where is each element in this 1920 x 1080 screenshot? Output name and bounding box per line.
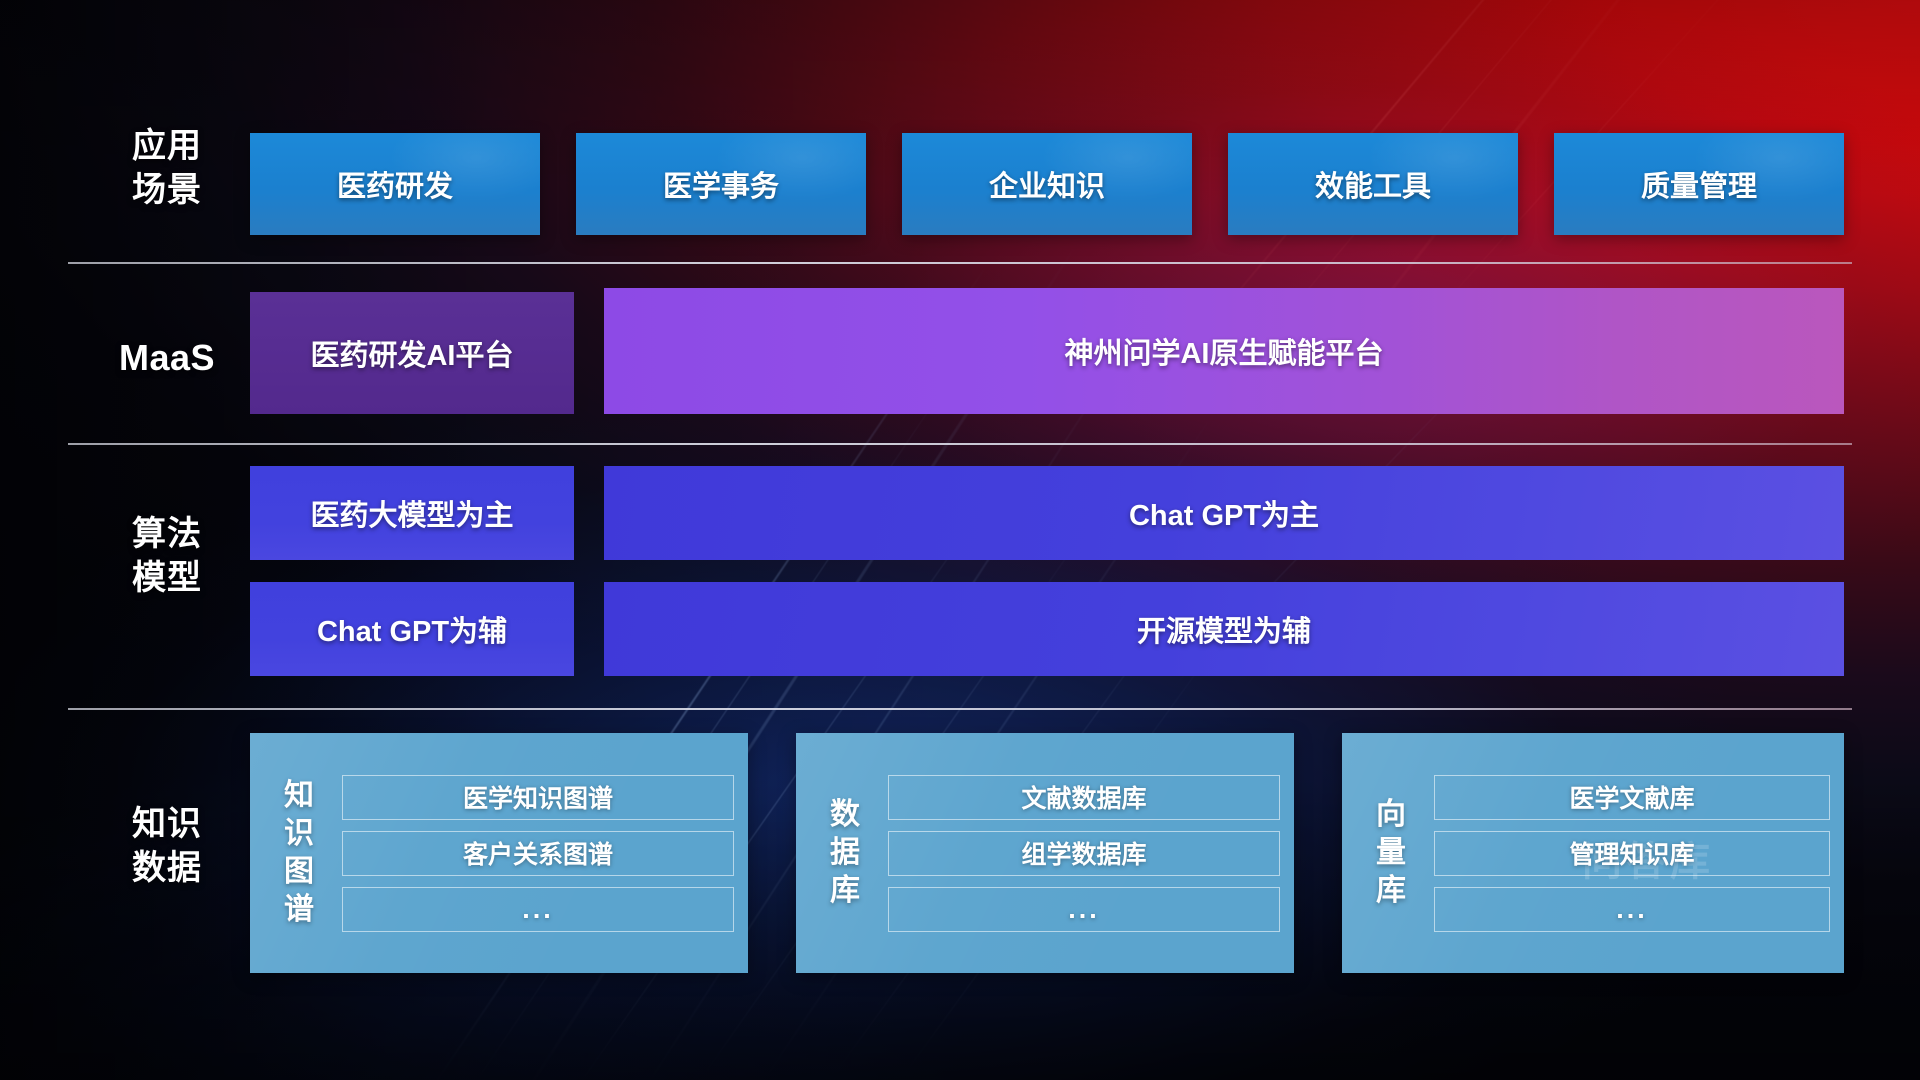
row-label-knowledge-data: 知识 数据 — [92, 802, 242, 890]
scenario-box-5[interactable]: 质量管理 — [1554, 133, 1844, 235]
kg-item-2[interactable]: 客户关系图谱 — [342, 831, 734, 876]
row-label-line-2: 场景 — [92, 168, 242, 212]
architecture-diagram: 应用 场景 医药研发 医学事务 企业知识 效能工具 质量管理 MaaS 医药研发… — [0, 0, 1920, 1080]
db-title-line-1: 数 — [808, 796, 882, 834]
divider-3 — [68, 708, 1852, 710]
vec-item-2-label: 管理知识库 — [1569, 835, 1694, 871]
db-title-line-3: 库 — [808, 872, 882, 910]
maas-box-shenzhou-platform[interactable]: 神州问学AI原生赋能平台 — [604, 288, 1844, 414]
scenario-box-1-label: 医药研发 — [337, 163, 453, 205]
scenario-box-3-label: 企业知识 — [989, 163, 1105, 205]
db-item-2[interactable]: 组学数据库 — [888, 831, 1280, 876]
knowledge-group-database-items: 文献数据库 组学数据库 ... — [882, 761, 1294, 946]
knowledge-group-vector-items: 医学文献库 管理知识库 ... — [1428, 761, 1844, 946]
knowledge-group-vector[interactable]: 问答库 向 量 库 医学文献库 管理知识库 ... — [1342, 733, 1844, 973]
db-item-2-label: 组学数据库 — [1021, 835, 1146, 871]
row-label-algo-line-1: 算法 — [92, 512, 242, 556]
row-label-maas-text: MaaS — [92, 336, 242, 380]
algo-box-opensource-aux-label: 开源模型为辅 — [1137, 608, 1311, 650]
divider-1 — [68, 262, 1852, 264]
algo-box-chatgpt-aux-label: Chat GPT为辅 — [317, 608, 507, 650]
vec-title-line-3: 库 — [1354, 872, 1428, 910]
row-label-kd-line-2: 数据 — [92, 846, 242, 890]
row-label-maas: MaaS — [92, 336, 242, 380]
knowledge-group-vector-title: 向 量 库 — [1354, 796, 1428, 910]
vec-title-line-1: 向 — [1354, 796, 1428, 834]
row-label-line-1: 应用 — [92, 124, 242, 168]
vec-item-2[interactable]: 管理知识库 — [1434, 831, 1830, 876]
algo-box-chatgpt-main-label: Chat GPT为主 — [1129, 492, 1319, 534]
algo-box-opensource-aux[interactable]: 开源模型为辅 — [604, 582, 1844, 676]
divider-2 — [68, 443, 1852, 445]
row-label-kd-line-1: 知识 — [92, 802, 242, 846]
knowledge-group-graph-items: 医学知识图谱 客户关系图谱 ... — [336, 761, 748, 946]
kg-title-line-1: 知 — [262, 777, 336, 815]
scenario-box-4[interactable]: 效能工具 — [1228, 133, 1518, 235]
vec-item-1[interactable]: 医学文献库 — [1434, 775, 1830, 820]
vec-item-3-more[interactable]: ... — [1434, 887, 1830, 932]
kg-title-line-2: 识 — [262, 815, 336, 853]
scenario-box-2-label: 医学事务 — [663, 163, 779, 205]
knowledge-group-graph-title: 知 识 图 谱 — [262, 777, 336, 929]
scenario-box-5-label: 质量管理 — [1641, 163, 1757, 205]
scenario-box-3[interactable]: 企业知识 — [902, 133, 1192, 235]
db-item-1-label: 文献数据库 — [1021, 779, 1146, 815]
scenario-box-2[interactable]: 医学事务 — [576, 133, 866, 235]
db-title-line-2: 据 — [808, 834, 882, 872]
scenario-box-1[interactable]: 医药研发 — [250, 133, 540, 235]
kg-title-line-3: 图 — [262, 853, 336, 891]
vec-item-3-label: ... — [1616, 894, 1648, 925]
row-label-algo-line-2: 模型 — [92, 556, 242, 600]
row-label-application-scenario: 应用 场景 — [92, 124, 242, 212]
maas-box-shenzhou-platform-label: 神州问学AI原生赋能平台 — [1064, 330, 1383, 372]
maas-box-pharma-platform[interactable]: 医药研发AI平台 — [250, 292, 574, 414]
vec-title-line-2: 量 — [1354, 834, 1428, 872]
row-label-algorithm-model: 算法 模型 — [92, 512, 242, 600]
knowledge-group-graph[interactable]: 知 识 图 谱 医学知识图谱 客户关系图谱 ... — [250, 733, 748, 973]
knowledge-group-database-title: 数 据 库 — [808, 796, 882, 910]
kg-item-3-more[interactable]: ... — [342, 887, 734, 932]
vec-item-1-label: 医学文献库 — [1569, 779, 1694, 815]
kg-item-3-label: ... — [522, 894, 554, 925]
maas-box-pharma-platform-label: 医药研发AI平台 — [310, 332, 513, 374]
algo-box-pharma-main-label: 医药大模型为主 — [310, 492, 513, 534]
algo-box-pharma-main[interactable]: 医药大模型为主 — [250, 466, 574, 560]
kg-item-1[interactable]: 医学知识图谱 — [342, 775, 734, 820]
kg-item-2-label: 客户关系图谱 — [463, 835, 613, 871]
db-item-3-more[interactable]: ... — [888, 887, 1280, 932]
kg-title-line-4: 谱 — [262, 891, 336, 929]
db-item-3-label: ... — [1068, 894, 1100, 925]
algo-box-chatgpt-main[interactable]: Chat GPT为主 — [604, 466, 1844, 560]
scenario-box-4-label: 效能工具 — [1315, 163, 1431, 205]
db-item-1[interactable]: 文献数据库 — [888, 775, 1280, 820]
kg-item-1-label: 医学知识图谱 — [463, 779, 613, 815]
knowledge-group-database[interactable]: 数 据 库 文献数据库 组学数据库 ... — [796, 733, 1294, 973]
algo-box-chatgpt-aux[interactable]: Chat GPT为辅 — [250, 582, 574, 676]
